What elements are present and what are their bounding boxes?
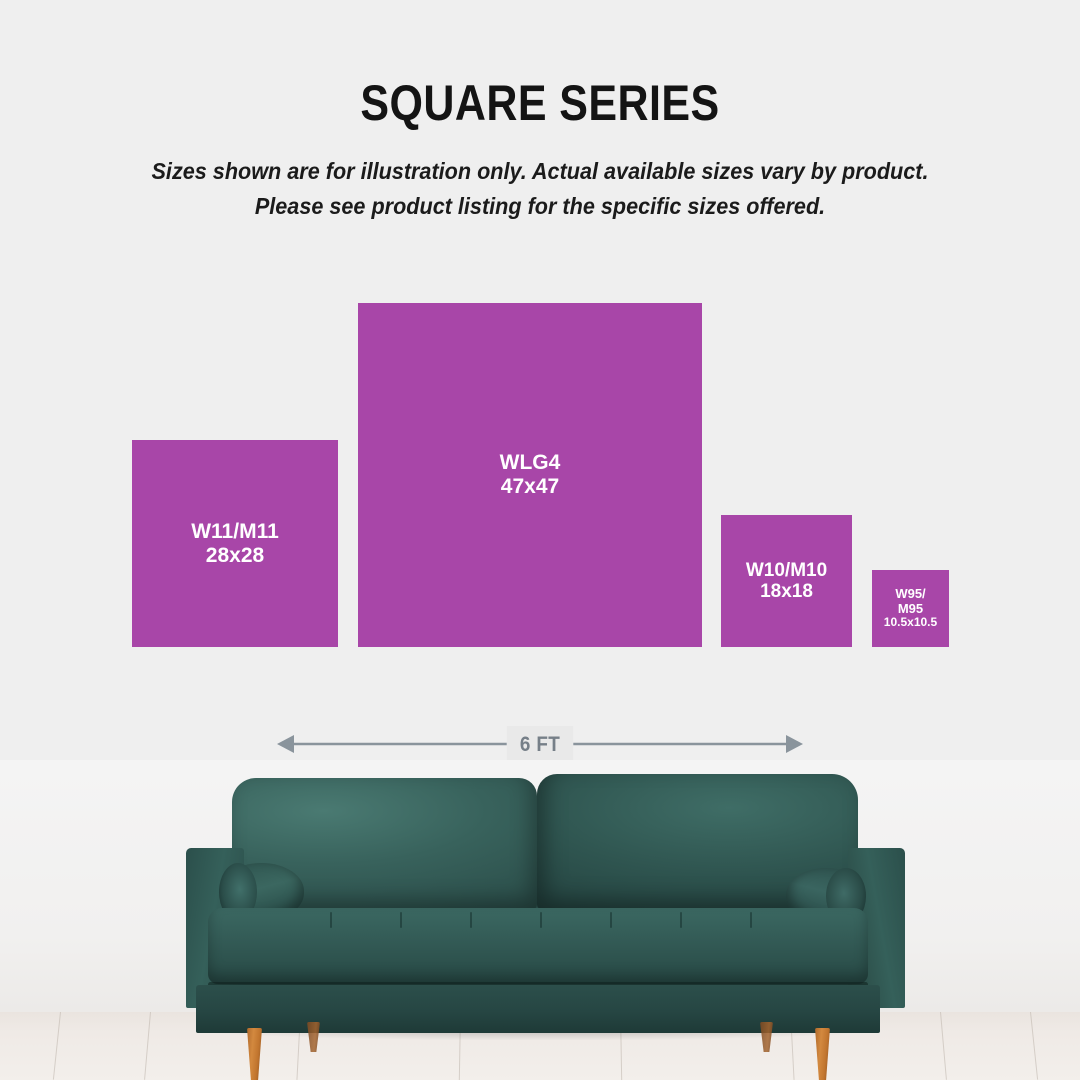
size-swatch-w95-m95: W95/ M95 10.5x10.5 [872, 570, 949, 647]
floor-plank-line [1030, 1012, 1038, 1080]
seat-tuft [610, 912, 612, 928]
room-scene [0, 760, 1080, 1080]
swatch-dimensions-w11-m11: 28x28 [206, 544, 264, 568]
floor-plank-line [940, 1012, 947, 1080]
seat-tuft [470, 912, 472, 928]
size-swatch-w10-m10: W10/M10 18x18 [721, 515, 852, 647]
swatch-code-wlg4: WLG4 [500, 451, 561, 475]
seat-tuft [400, 912, 402, 928]
swatch-code-w95-m95-line1: W95/ [895, 587, 925, 602]
subtitle-line-2: Please see product listing for the speci… [32, 189, 1047, 224]
page-title: SQUARE SERIES [76, 74, 1005, 132]
arrow-head-left-icon [277, 735, 294, 753]
seat-tuft [750, 912, 752, 928]
page-subtitle: Sizes shown are for illustration only. A… [32, 154, 1047, 224]
arrow-head-right-icon [786, 735, 803, 753]
size-swatch-wlg4: WLG4 47x47 [358, 303, 702, 647]
sofa-seat-cushion [208, 908, 868, 984]
size-swatch-w11-m11: W11/M11 28x28 [132, 440, 338, 647]
swatch-code-w10-m10: W10/M10 [746, 560, 827, 581]
swatch-dimensions-w95-m95: 10.5x10.5 [884, 616, 937, 629]
swatch-dimensions-w10-m10: 18x18 [760, 581, 813, 602]
swatch-dimensions-wlg4: 47x47 [501, 475, 559, 499]
floor-plank-line [53, 1012, 61, 1080]
subtitle-line-1: Sizes shown are for illustration only. A… [32, 154, 1047, 189]
swatch-code-w95-m95-line2: M95 [898, 602, 923, 617]
sofa-base-skirt [196, 985, 880, 1033]
seat-tuft [680, 912, 682, 928]
floor-plank-line [144, 1012, 151, 1080]
size-chart-canvas: SQUARE SERIES Sizes shown are for illust… [0, 0, 1080, 1080]
swatch-code-w11-m11: W11/M11 [191, 520, 279, 544]
dimension-label-6ft: 6 FT [507, 726, 574, 764]
seat-tuft [330, 912, 332, 928]
seat-tuft [540, 912, 542, 928]
